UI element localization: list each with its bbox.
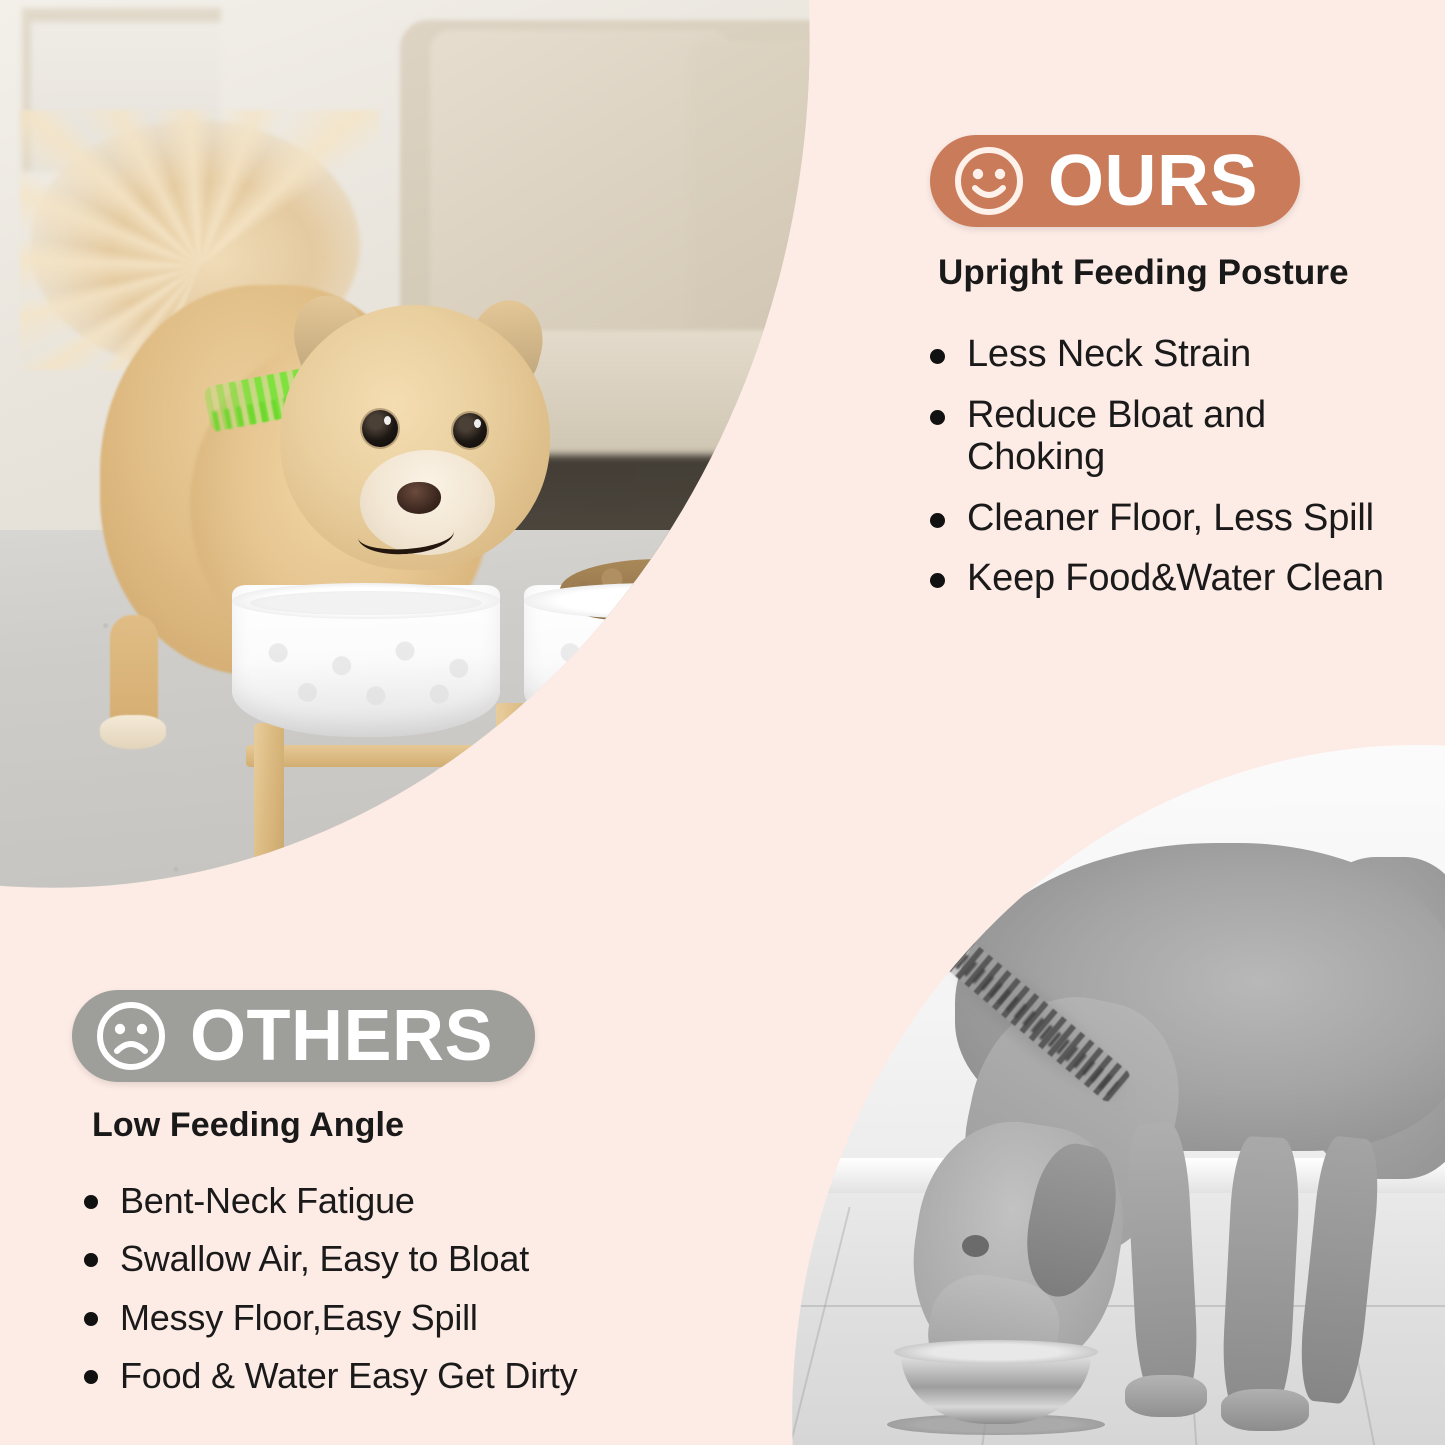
paw-print-emboss	[244, 627, 488, 713]
bullet-dot-icon	[84, 1195, 98, 1209]
others-badge: OTHERS	[72, 990, 535, 1082]
elevated-bowl-set	[232, 585, 792, 885]
water-bowl-interior	[250, 591, 482, 615]
bamboo-stand-leg-left	[254, 723, 284, 871]
list-item: Food & Water Easy Get Dirty	[84, 1356, 652, 1396]
others-bullet-text: Bent-Neck Fatigue	[120, 1181, 415, 1221]
bullet-dot-icon	[930, 349, 945, 364]
list-item: Cleaner Floor, Less Spill	[930, 497, 1400, 540]
list-item: Swallow Air, Easy to Bloat	[84, 1239, 652, 1279]
dog-front-leg	[1125, 1122, 1201, 1405]
others-photo	[765, 745, 1445, 1445]
dog-front-paw	[1125, 1375, 1207, 1417]
list-item: Messy Floor,Easy Spill	[84, 1298, 652, 1338]
dog-eye-left	[362, 410, 398, 447]
bullet-dot-icon	[84, 1370, 98, 1384]
dog-hind-leg-far	[1295, 1135, 1384, 1406]
ours-photo-scene	[0, 0, 880, 965]
ours-panel: OURS Upright Feeding Posture Less Neck S…	[930, 135, 1400, 618]
bullet-dot-icon	[84, 1253, 98, 1267]
others-bullet-text: Swallow Air, Easy to Bloat	[120, 1239, 529, 1279]
bullet-dot-icon	[930, 513, 945, 528]
dog-front-paw	[100, 715, 166, 749]
others-drawback-list: Bent-Neck Fatigue Swallow Air, Easy to B…	[84, 1181, 652, 1396]
bullet-dot-icon	[930, 573, 945, 588]
smiley-face-icon	[952, 144, 1026, 218]
ours-bullet-text: Keep Food&Water Clean	[967, 557, 1384, 600]
dog-hind-leg-near	[1220, 1135, 1303, 1418]
ours-bullet-text: Less Neck Strain	[967, 333, 1251, 376]
bullet-dot-icon	[930, 410, 945, 425]
food-bowl-rim	[524, 583, 792, 619]
bending-dog	[765, 745, 1445, 1445]
others-bullet-text: Messy Floor,Easy Spill	[120, 1298, 478, 1338]
list-item: Keep Food&Water Clean	[930, 557, 1400, 600]
sad-face-icon	[94, 999, 168, 1073]
list-item: Less Neck Strain	[930, 333, 1400, 376]
dog-hind-paw	[1221, 1389, 1309, 1431]
water-bowl	[232, 585, 500, 737]
ours-bullet-text: Reduce Bloat and Choking	[967, 394, 1400, 479]
ours-subheading: Upright Feeding Posture	[938, 253, 1400, 293]
food-bowl	[524, 585, 792, 737]
ours-badge: OURS	[930, 135, 1300, 227]
steel-bowl-rim	[894, 1340, 1098, 1364]
list-item: Bent-Neck Fatigue	[84, 1181, 652, 1221]
bamboo-stand-center-post	[496, 703, 536, 853]
dog-eye-right	[453, 413, 487, 448]
bullet-dot-icon	[84, 1312, 98, 1326]
sofa-cushion-right	[690, 40, 880, 340]
ours-badge-label: OURS	[1048, 145, 1258, 217]
bamboo-stand-rail	[246, 745, 766, 767]
paw-print-emboss	[536, 627, 780, 713]
list-item: Reduce Bloat and Choking	[930, 394, 1400, 479]
ours-benefit-list: Less Neck Strain Reduce Bloat and Chokin…	[930, 333, 1400, 600]
infographic-canvas: OURS Upright Feeding Posture Less Neck S…	[0, 0, 1445, 1445]
dog-paw-behind-stand	[432, 763, 506, 799]
others-panel: OTHERS Low Feeding Angle Bent-Neck Fatig…	[72, 990, 652, 1414]
ours-bullet-text: Cleaner Floor, Less Spill	[967, 497, 1374, 540]
others-subheading: Low Feeding Angle	[92, 1106, 652, 1145]
dog-nose	[397, 482, 441, 514]
bamboo-stand-leg-right	[732, 723, 762, 871]
bamboo-stand-leg-center	[500, 709, 530, 837]
others-badge-label: OTHERS	[190, 1000, 493, 1072]
ours-photo	[0, 0, 880, 965]
others-bullet-text: Food & Water Easy Get Dirty	[120, 1356, 577, 1396]
